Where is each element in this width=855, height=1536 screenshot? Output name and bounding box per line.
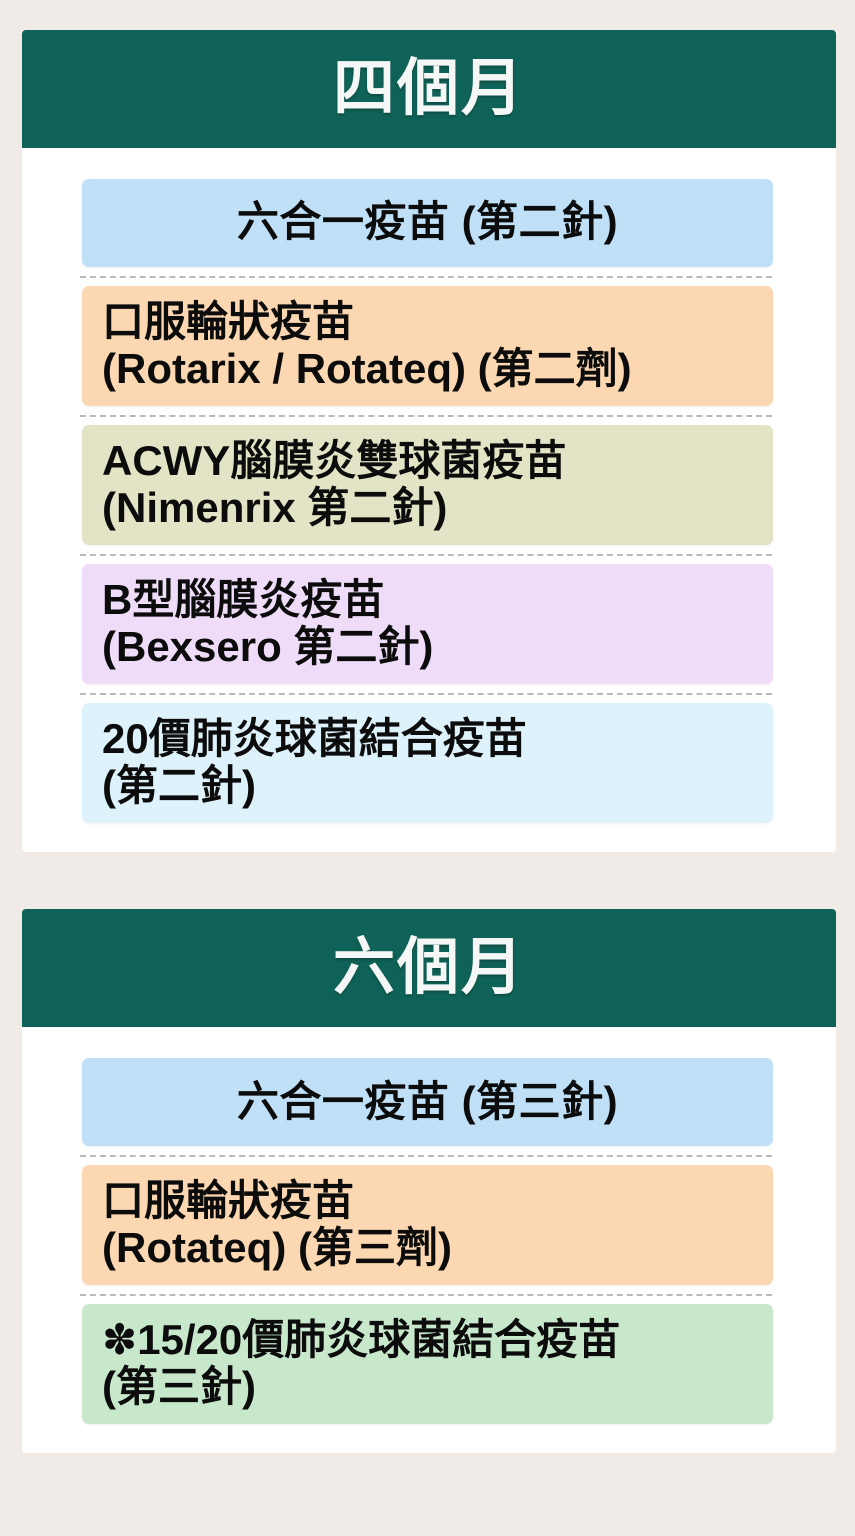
vaccine-row-hexavalent-vaccine[interactable]: 六合一疫苗 (第三針) [82,1058,773,1146]
schedule-card: 六個月六合一疫苗 (第三針)口服輪狀疫苗(Rotateq) (第三劑)✽15/2… [22,909,836,1453]
schedule-card: 四個月六合一疫苗 (第二針)口服輪狀疫苗(Rotarix / Rotateq) … [22,30,836,852]
vaccine-row-pneumococcal-20-vaccine[interactable]: 20價肺炎球菌結合疫苗(第二針) [82,703,773,823]
vaccine-label: (Rotateq) (第三劑) [102,1224,452,1271]
card-body: 六合一疫苗 (第三針)口服輪狀疫苗(Rotateq) (第三劑)✽15/20價肺… [22,1027,836,1453]
vaccine-label: (第二針) [102,762,256,809]
card-body: 六合一疫苗 (第二針)口服輪狀疫苗(Rotarix / Rotateq) (第二… [22,148,836,852]
vaccine-label: (Bexsero 第二針) [102,623,433,670]
vaccine-row-acwy-meningococcal-vaccine[interactable]: ACWY腦膜炎雙球菌疫苗(Nimenrix 第二針) [82,425,773,545]
vaccine-label: 口服輪狀疫苗 [102,298,354,345]
vaccine-label: 20價肺炎球菌結合疫苗 [102,715,527,762]
row-divider [80,415,772,417]
row-divider [80,693,772,695]
vaccine-label: 口服輪狀疫苗 [102,1177,354,1224]
vaccine-row-oral-rotavirus-vaccine[interactable]: 口服輪狀疫苗(Rotateq) (第三劑) [82,1165,773,1285]
row-divider [80,1294,772,1296]
vaccine-label: ✽15/20價肺炎球菌結合疫苗 [102,1316,620,1363]
card-header-title: 六個月 [333,937,525,999]
vaccine-label: 六合一疫苗 (第三針) [237,1078,618,1125]
card-header: 四個月 [22,30,836,148]
vaccine-label: 六合一疫苗 (第二針) [237,198,618,245]
vaccination-schedule: 四個月六合一疫苗 (第二針)口服輪狀疫苗(Rotarix / Rotateq) … [0,0,855,1536]
vaccine-row-meningococcal-b-vaccine[interactable]: B型腦膜炎疫苗(Bexsero 第二針) [82,564,773,684]
vaccine-label: (第三針) [102,1363,256,1410]
vaccine-row-oral-rotavirus-vaccine[interactable]: 口服輪狀疫苗(Rotarix / Rotateq) (第二劑) [82,286,773,406]
vaccine-label: (Rotarix / Rotateq) (第二劑) [102,345,632,392]
card-header-title: 四個月 [333,58,525,120]
vaccine-row-hexavalent-vaccine[interactable]: 六合一疫苗 (第二針) [82,179,773,267]
vaccine-row-pneumococcal-15-20-vaccine[interactable]: ✽15/20價肺炎球菌結合疫苗(第三針) [82,1304,773,1424]
row-divider [80,1155,772,1157]
vaccine-label: B型腦膜炎疫苗 [102,576,384,623]
vaccine-label: ACWY腦膜炎雙球菌疫苗 [102,437,566,484]
vaccine-label: (Nimenrix 第二針) [102,484,447,531]
row-divider [80,276,772,278]
row-divider [80,554,772,556]
card-header: 六個月 [22,909,836,1027]
